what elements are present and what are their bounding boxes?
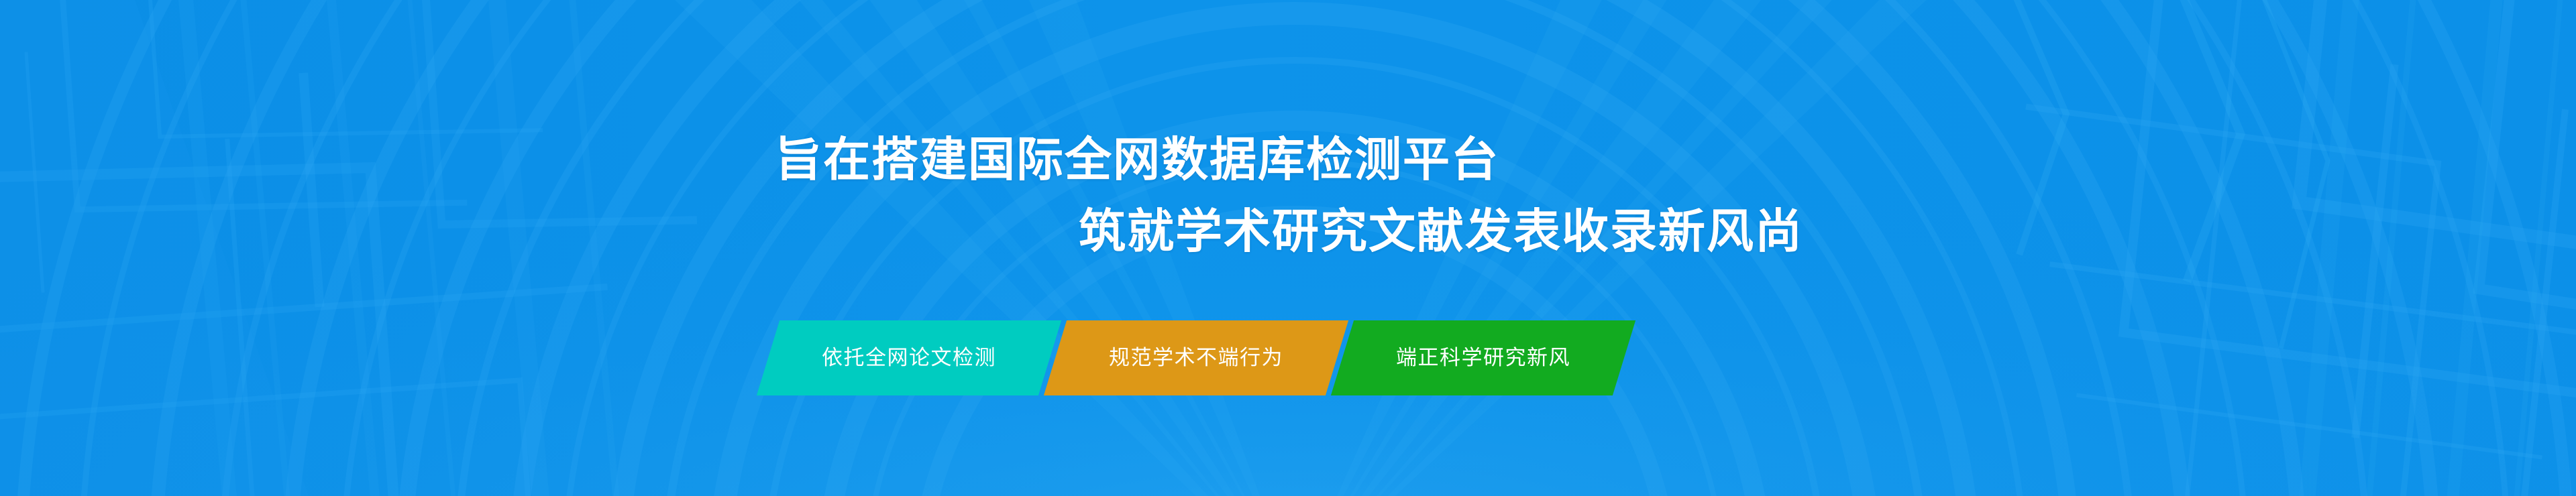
feature-tag-0-label: 依托全网论文检测	[822, 320, 996, 395]
feature-tag-0[interactable]: 依托全网论文检测	[757, 320, 1061, 395]
feature-tag-row: 依托全网论文检测 规范学术不端行为 端正科学研究新风	[768, 320, 1624, 395]
headline-line-2: 筑就学术研究文献发表收录新风尚	[1079, 200, 1803, 262]
promo-banner: 旨在搭建国际全网数据库检测平台 筑就学术研究文献发表收录新风尚 依托全网论文检测…	[0, 0, 2576, 496]
feature-tag-1-label: 规范学术不端行为	[1109, 320, 1283, 395]
headline-line-1: 旨在搭建国际全网数据库检测平台	[775, 129, 1499, 190]
feature-tag-1[interactable]: 规范学术不端行为	[1044, 320, 1348, 395]
feature-tag-2-label: 端正科学研究新风	[1396, 320, 1570, 395]
feature-tag-2[interactable]: 端正科学研究新风	[1331, 320, 1635, 395]
